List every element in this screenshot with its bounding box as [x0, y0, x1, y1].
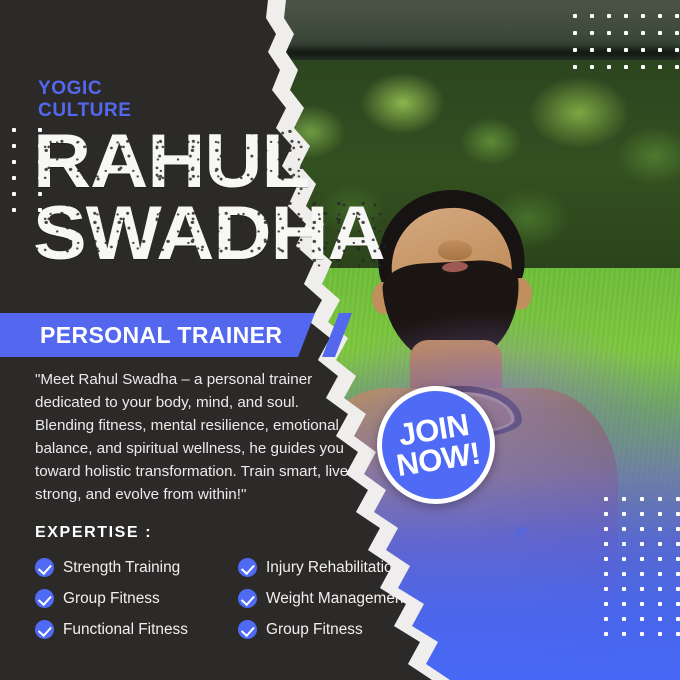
expertise-item-label: Group Fitness — [266, 621, 363, 639]
role-label: PERSONAL TRAINER — [0, 322, 282, 349]
name-first-line: RAHUL — [33, 128, 383, 196]
check-icon — [35, 620, 54, 639]
expertise-heading: EXPERTISE : — [35, 524, 152, 542]
brand-logo: YOGIC CULTURE — [38, 78, 132, 122]
trainer-name: RAHUL SWADHA — [33, 128, 363, 269]
poster-canvas: YOGIC CULTURE RAHUL SWADHA PERSONAL TRAI… — [0, 0, 680, 680]
dot-grid-bottom-right — [604, 497, 680, 647]
expertise-item-label: Group Fitness — [63, 590, 160, 608]
expertise-item: Group Fitness — [238, 614, 441, 645]
expertise-item-label: Functional Fitness — [63, 621, 188, 639]
expertise-item: Injury Rehabilitation — [238, 552, 441, 583]
expertise-item-label: Weight Management — [266, 590, 408, 608]
name-last-line: SWADHA — [33, 200, 383, 268]
subject-nose — [438, 240, 472, 260]
name-last-text: SWADHA — [33, 200, 385, 268]
expertise-item: Group Fitness — [35, 583, 238, 614]
check-icon — [35, 558, 54, 577]
expertise-list: Strength Training Injury Rehabilitation … — [35, 552, 455, 645]
expertise-item-label: Injury Rehabilitation — [266, 559, 401, 577]
check-icon — [35, 589, 54, 608]
bio-paragraph: "Meet Rahul Swadha – a personal trainer … — [35, 368, 355, 507]
role-banner: PERSONAL TRAINER — [0, 313, 315, 357]
check-icon — [238, 558, 257, 577]
dot-grid-top-right — [573, 14, 680, 82]
name-first-text: RAHUL — [33, 128, 310, 196]
expertise-item: Weight Management — [238, 583, 441, 614]
check-icon — [238, 589, 257, 608]
expertise-item-label: Strength Training — [63, 559, 180, 577]
brand-line-1: YOGIC — [38, 78, 132, 100]
expertise-item: Functional Fitness — [35, 614, 238, 645]
check-icon — [238, 620, 257, 639]
expertise-item: Strength Training — [35, 552, 238, 583]
